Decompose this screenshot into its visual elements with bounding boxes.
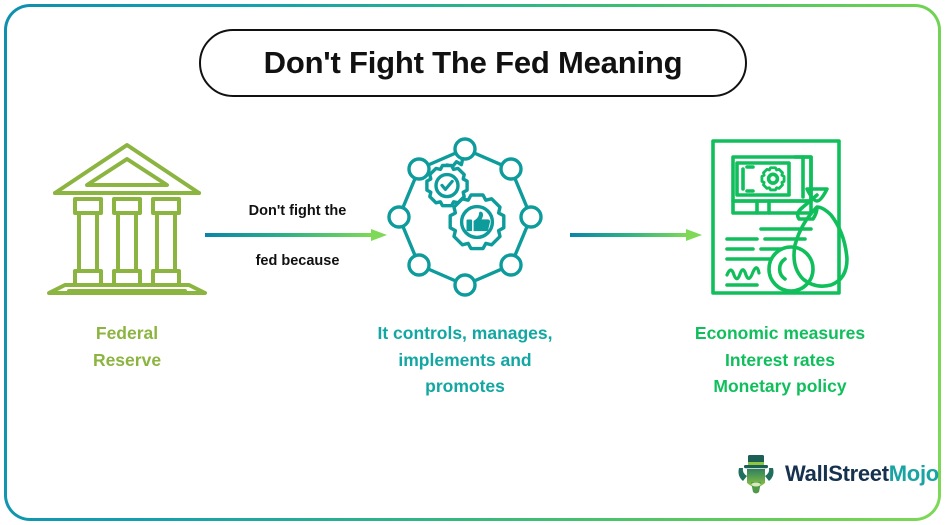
logo-wordmark: WallStreetMojo bbox=[785, 461, 939, 487]
caption-line: It controls, manages, bbox=[340, 320, 590, 347]
caption-line: Economic measures bbox=[650, 320, 910, 347]
network-gears-icon bbox=[340, 132, 590, 302]
stage-controls-caption: It controls, manages, implements and pro… bbox=[340, 320, 590, 400]
caption-line: implements and bbox=[340, 347, 590, 374]
wallstreetmojo-logo[interactable]: WallStreetMojo bbox=[735, 452, 939, 496]
stage-measures-caption: Economic measures Interest rates Monetar… bbox=[650, 320, 910, 400]
caption-line: Interest rates bbox=[650, 347, 910, 374]
stage-federal-reserve-caption: Federal Reserve bbox=[26, 320, 228, 373]
stage-controls: It controls, manages, implements and pro… bbox=[340, 132, 590, 400]
page-title: Don't Fight The Fed Meaning bbox=[264, 45, 683, 81]
stage-federal-reserve: Federal Reserve bbox=[26, 132, 228, 373]
financial-document-icon bbox=[650, 132, 910, 302]
wallstreetmojo-bull-logo bbox=[735, 452, 777, 496]
caption-line: promotes bbox=[340, 373, 590, 400]
logo-primary-text: WallStreet bbox=[785, 461, 889, 486]
bank-building-icon bbox=[26, 132, 228, 302]
caption-line: Reserve bbox=[26, 347, 228, 374]
caption-line: Monetary policy bbox=[650, 373, 910, 400]
caption-line: Federal bbox=[26, 320, 228, 347]
page-title-pill: Don't Fight The Fed Meaning bbox=[199, 29, 747, 97]
stage-measures: Economic measures Interest rates Monetar… bbox=[650, 132, 910, 400]
logo-secondary-text: Mojo bbox=[889, 461, 939, 486]
infographic-canvas: Don't Fight The Fed Meaning bbox=[0, 0, 945, 525]
